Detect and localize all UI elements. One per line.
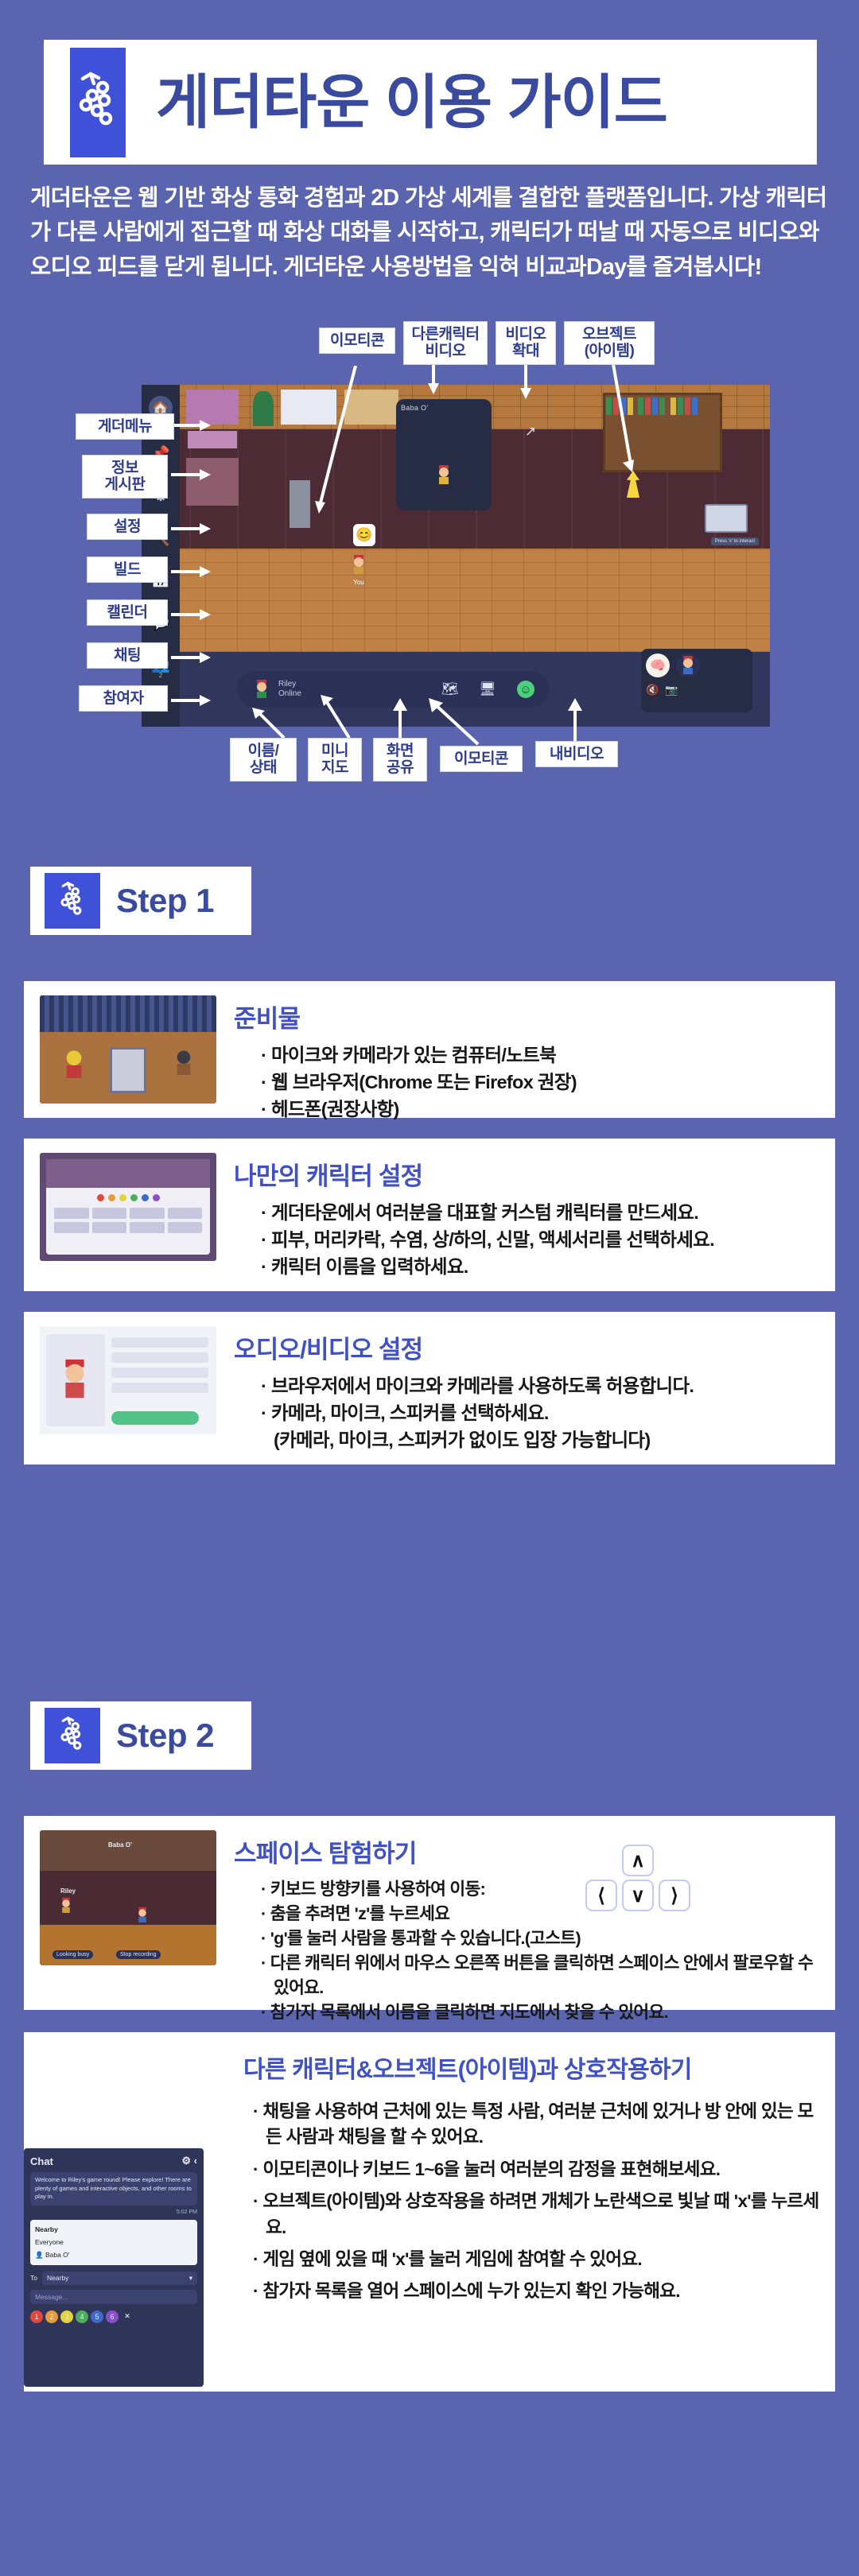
arrow-info-board xyxy=(171,466,216,483)
chat-to-row[interactable]: To Nearby ▾ xyxy=(30,2271,197,2285)
card-explore-space-title: 스페이스 탐험하기 xyxy=(234,1833,819,1869)
chat-option-baba[interactable]: 👤 Baba O' xyxy=(35,2248,192,2262)
furniture-door xyxy=(290,480,310,528)
emoji-2[interactable]: 2 xyxy=(45,2310,58,2323)
chat-timestamp: 5:02 PM xyxy=(30,2209,197,2215)
arrow-settings xyxy=(171,520,216,537)
list-item: · 키보드 방향키를 사용하여 이동: xyxy=(261,1877,819,1902)
gather-grapes-logo-icon xyxy=(70,48,126,157)
intro-paragraph: 게더타운은 웹 기반 화상 통화 경험과 2D 가상 세계를 결합한 플랫폼입니… xyxy=(30,181,830,285)
list-item: · 게더타운에서 여러분을 대표할 커스텀 캐릭터를 만드세요. xyxy=(261,1200,819,1227)
emoji-6[interactable]: 6 xyxy=(106,2310,119,2323)
card-audio-video-setup-body: 오디오/비디오 설정 · 브라우저에서 마이크와 카메라를 사용하도록 허용합니… xyxy=(234,1326,819,1450)
arrow-participants xyxy=(171,692,216,709)
arrow-key-down[interactable]: ∨ xyxy=(622,1880,654,1911)
callout-emoticon-bottom: 이모티콘 xyxy=(440,746,523,772)
arrow-video-enlarge xyxy=(510,364,542,402)
arrow-key-up[interactable]: ∧ xyxy=(622,1845,654,1876)
list-item: · 참가자 목록에서 이름을 클릭하면 지도에서 찾을 수 있어요. xyxy=(261,2000,819,2025)
classroom-computer-thumb xyxy=(40,995,216,1104)
page-title-banner: 게더타운 이용 가이드 xyxy=(44,40,817,165)
space-explore-thumb: Baba O' Riley Looking busy Stop recordin… xyxy=(40,1830,216,1965)
chat-welcome-message: Welcome to Riley's game round! Please ex… xyxy=(30,2172,197,2206)
card-preparation-body: 준비물 · 마이크와 카메라가 있는 컴퓨터/노트북 · 웹 브라우저(Chro… xyxy=(234,995,819,1104)
arrow-key-left[interactable]: ⟨ xyxy=(585,1880,617,1911)
callout-video-enlarge: 비디오 확대 xyxy=(496,321,556,365)
arrow-my-video xyxy=(564,698,586,743)
callout-info-board: 정보 게시판 xyxy=(82,455,168,499)
card-interaction-list: · 채팅을 사용하여 근처에 있는 특정 사람, 여러분 근처에 있거나 방 안… xyxy=(243,2099,819,2305)
emoticon-bubble: 😊 xyxy=(353,524,375,546)
list-item: · 마이크와 카메라가 있는 컴퓨터/노트북 xyxy=(261,1042,819,1069)
list-item: · 'g'를 눌러 사람을 통과할 수 있습니다.(고스트) xyxy=(261,1926,819,1951)
chat-header-icons: ⚙ ‹ xyxy=(181,2155,197,2167)
floor-texture xyxy=(142,549,770,652)
chat-panel-screenshot[interactable]: Chat ⚙ ‹ Welcome to Riley's game round! … xyxy=(24,2148,204,2387)
chat-panel-title: Chat xyxy=(30,2155,53,2167)
emoji-smile-icon[interactable]: ☺ xyxy=(517,681,534,698)
other-character-avatar xyxy=(435,464,453,487)
card-preparation-title: 준비물 xyxy=(234,999,819,1034)
card-preparation: 준비물 · 마이크와 카메라가 있는 컴퓨터/노트북 · 웹 브라우저(Chro… xyxy=(24,981,835,1118)
av-settings-thumb xyxy=(40,1326,216,1434)
callout-emoticon: 이모티콘 xyxy=(319,328,395,354)
card-audio-video-setup-list: · 브라우저에서 마이크와 카메라를 사용하도록 허용합니다. · 카메라, 마… xyxy=(234,1373,819,1453)
my-character-avatar: You xyxy=(350,553,367,586)
toolbar-icon-group: 🗺 🖥 ☺ xyxy=(441,681,534,698)
my-video-thumb: 🧠 xyxy=(646,654,670,677)
list-item: · 피부, 머리카락, 수염, 상/하의, 신말, 액세서리를 선택하세요. xyxy=(261,1227,819,1254)
callout-chat: 채팅 xyxy=(87,642,168,669)
furniture-plant xyxy=(253,391,274,426)
callout-build: 빌드 xyxy=(87,557,168,583)
map-icon[interactable]: 🗺 xyxy=(441,681,459,697)
chat-emoji-row[interactable]: 1 2 3 4 5 6 ✕ xyxy=(30,2310,197,2323)
thumb-other-name: Baba O' xyxy=(108,1841,132,1849)
callout-calendar: 캘린더 xyxy=(87,599,168,626)
card-preparation-list: · 마이크와 카메라가 있는 컴퓨터/노트북 · 웹 브라우저(Chrome 또… xyxy=(234,1042,819,1123)
arrow-object-item xyxy=(561,364,648,475)
card-explore-space-body: 스페이스 탐험하기 ∧ ⟨ ∨ ⟩ · 키보드 방향키를 사용하여 이동: · … xyxy=(234,1830,819,1996)
chat-to-select[interactable]: Nearby ▾ xyxy=(42,2271,197,2285)
my-character-label: You xyxy=(350,579,367,586)
chat-option-everyone[interactable]: Everyone xyxy=(35,2236,192,2248)
thumb-other-avatar xyxy=(135,1907,150,1926)
thumb-status-bubble-1: Looking busy xyxy=(52,1950,93,1959)
gear-icon[interactable]: ⚙ xyxy=(181,2155,191,2167)
arrow-emoticon xyxy=(314,366,386,517)
list-item: · 참가자 목록을 열어 스페이스에 누가 있는지 확인 가능해요. xyxy=(253,2279,819,2304)
list-item: · 헤드폰(권장사항) xyxy=(261,1096,819,1123)
toolbar-user-status: Online xyxy=(278,689,301,700)
list-item: · 채팅을 사용하여 근처에 있는 특정 사람, 여러분 근처에 있거나 방 안… xyxy=(253,2099,819,2151)
arrow-emoticon-bottom xyxy=(426,698,484,747)
camera-off-icon[interactable]: 📷 xyxy=(665,684,678,696)
emoji-4[interactable]: 4 xyxy=(76,2310,88,2323)
arrow-gather-menu xyxy=(171,417,216,434)
arrow-minimap xyxy=(319,695,367,741)
chevron-left-icon[interactable]: ‹ xyxy=(194,2155,197,2167)
screen-share-icon[interactable]: 🖥 xyxy=(479,681,496,697)
my-video-tiles: 🧠 xyxy=(646,654,748,677)
other-character-name: Baba O' xyxy=(396,399,492,412)
thumb-my-avatar xyxy=(59,1897,73,1916)
step-2-header: Step 2 xyxy=(30,1701,251,1770)
annotated-screenshot-diagram: 🏠 📌 ⚙ 🔨 📅 💬 👥 2 Baba O' xyxy=(76,318,775,787)
callout-settings: 설정 xyxy=(87,514,168,540)
callout-gather-menu: 게더메뉴 xyxy=(76,413,174,440)
character-editor-thumb xyxy=(40,1153,216,1261)
other-character-video-tile[interactable]: Baba O' xyxy=(396,399,492,510)
arrow-chat xyxy=(171,649,216,666)
chat-recipient-dropdown[interactable]: Nearby Everyone 👤 Baba O' xyxy=(30,2220,197,2265)
my-video-panel[interactable]: 🧠 🔇 📷 xyxy=(641,649,752,712)
list-item: · 게임 옆에 있을 때 'x'를 눌러 게임에 참여할 수 있어요. xyxy=(253,2247,819,2272)
callout-participants: 참여자 xyxy=(79,685,168,712)
arrow-keys-cluster[interactable]: ∧ ⟨ ∨ ⟩ xyxy=(581,1845,700,1918)
card-interaction-body: 다른 캐릭터&오브젝트(아이템)과 상호작용하기 · 채팅을 사용하여 근처에 … xyxy=(237,2046,819,2311)
mic-off-icon[interactable]: 🔇 xyxy=(646,684,659,696)
callout-screen-share: 화면 공유 xyxy=(373,738,427,782)
emoji-1[interactable]: 1 xyxy=(30,2310,43,2323)
gather-grapes-logo-icon xyxy=(45,1708,100,1763)
thumb-status-bubble-2: Stop recording xyxy=(116,1950,161,1959)
list-item: · 오브젝트(아이템)와 상호작용을 하려면 개체가 노란색으로 빛날 때 'x… xyxy=(253,2189,819,2240)
thumb-my-name: Riley xyxy=(60,1887,76,1895)
participant-count: 2 xyxy=(151,673,170,679)
list-item: · 브라우저에서 마이크와 카메라를 사용하도록 허용합니다. xyxy=(261,1373,819,1400)
card-explore-space-list: · 키보드 방향키를 사용하여 이동: · 춤을 추려면 'z'를 누르세요 ·… xyxy=(234,1877,819,2025)
toolbar-name-status[interactable]: Riley Online xyxy=(278,680,301,700)
list-item: · 웹 브라우저(Chrome 또는 Firefox 권장) xyxy=(261,1069,819,1096)
chevron-down-icon[interactable]: ▾ xyxy=(189,2274,192,2283)
my-video-controls[interactable]: 🔇 📷 xyxy=(646,677,748,696)
chat-to-label: To xyxy=(30,2274,37,2282)
card-character-setup: 나만의 캐릭터 설정 · 게더타운에서 여러분을 대표할 커스텀 캐릭터를 만드… xyxy=(24,1139,835,1291)
card-character-setup-title: 나만의 캐릭터 설정 xyxy=(234,1156,819,1192)
emoji-5[interactable]: 5 xyxy=(91,2310,103,2323)
callout-my-video: 내비디오 xyxy=(535,741,618,767)
emoji-3[interactable]: 3 xyxy=(60,2310,73,2323)
peer-video-thumb xyxy=(676,654,700,677)
arrow-key-right[interactable]: ⟩ xyxy=(659,1880,690,1911)
step-1-header: Step 1 xyxy=(30,867,251,935)
chat-dropdown-label: Nearby xyxy=(35,2223,192,2236)
callout-minimap: 미니 지도 xyxy=(308,738,362,782)
list-item: · 춤을 추려면 'z'를 누르세요 xyxy=(261,1902,819,1926)
list-item: · 이모티콘이나 키보드 1~6을 눌러 여러분의 감정을 표현해보세요. xyxy=(253,2157,819,2182)
callout-object-item: 오브젝트 (아이템) xyxy=(564,321,655,365)
close-icon[interactable]: ✕ xyxy=(121,2310,134,2323)
arrow-build xyxy=(171,563,216,580)
card-explore-space: Baba O' Riley Looking busy Stop recordin… xyxy=(24,1816,835,2010)
page-title: 게더타운 이용 가이드 xyxy=(156,73,667,132)
list-item: · 다른 캐릭터 위에서 마우스 오른쪽 버튼을 클릭하면 스페이스 안에서 팔… xyxy=(261,1951,819,2000)
callout-name-status: 이름/ 상태 xyxy=(230,738,297,782)
arrow-screen-share xyxy=(389,698,411,741)
list-item: · 캐릭터 이름을 입력하세요. xyxy=(261,1254,819,1281)
list-item-sub: (카메라, 마이크, 스피커가 없이도 입장 가능합니다) xyxy=(261,1427,819,1454)
card-audio-video-setup: 오디오/비디오 설정 · 브라우저에서 마이크와 카메라를 사용하도록 허용합니… xyxy=(24,1312,835,1465)
card-character-setup-list: · 게더타운에서 여러분을 대표할 커스텀 캐릭터를 만드세요. · 피부, 머… xyxy=(234,1200,819,1280)
video-enlarge-icon[interactable]: ↗ xyxy=(520,421,541,442)
minimap-preview xyxy=(705,504,748,533)
toolbar-user-name: Riley xyxy=(278,680,301,690)
callout-other-character-video: 다른캐릭터 비디오 xyxy=(403,321,488,365)
avatar: 👤 xyxy=(35,2251,44,2259)
arrow-other-video xyxy=(418,364,449,396)
step-2-label: Step 2 xyxy=(116,1717,214,1755)
list-item: · 카메라, 마이크, 스피커를 선택하세요. xyxy=(261,1400,819,1427)
card-character-setup-body: 나만의 캐릭터 설정 · 게더타운에서 여러분을 대표할 커스텀 캐릭터를 만드… xyxy=(234,1153,819,1277)
minimap-caption: Press 'x' to interact xyxy=(711,537,759,545)
arrow-calendar xyxy=(171,606,216,623)
arrow-name-status xyxy=(249,708,297,741)
card-audio-video-setup-title: 오디오/비디오 설정 xyxy=(234,1329,819,1365)
gather-town-screenshot: 🏠 📌 ⚙ 🔨 📅 💬 👥 2 Baba O' xyxy=(142,385,770,727)
chat-panel-header: Chat ⚙ ‹ xyxy=(30,2155,197,2167)
step-1-label: Step 1 xyxy=(116,882,214,920)
gather-grapes-logo-icon xyxy=(45,873,100,929)
card-interaction-title: 다른 캐릭터&오브젝트(아이템)과 상호작용하기 xyxy=(243,2050,819,2085)
chat-message-input[interactable]: Message... xyxy=(30,2290,197,2304)
toolbar-avatar[interactable] xyxy=(251,679,272,700)
